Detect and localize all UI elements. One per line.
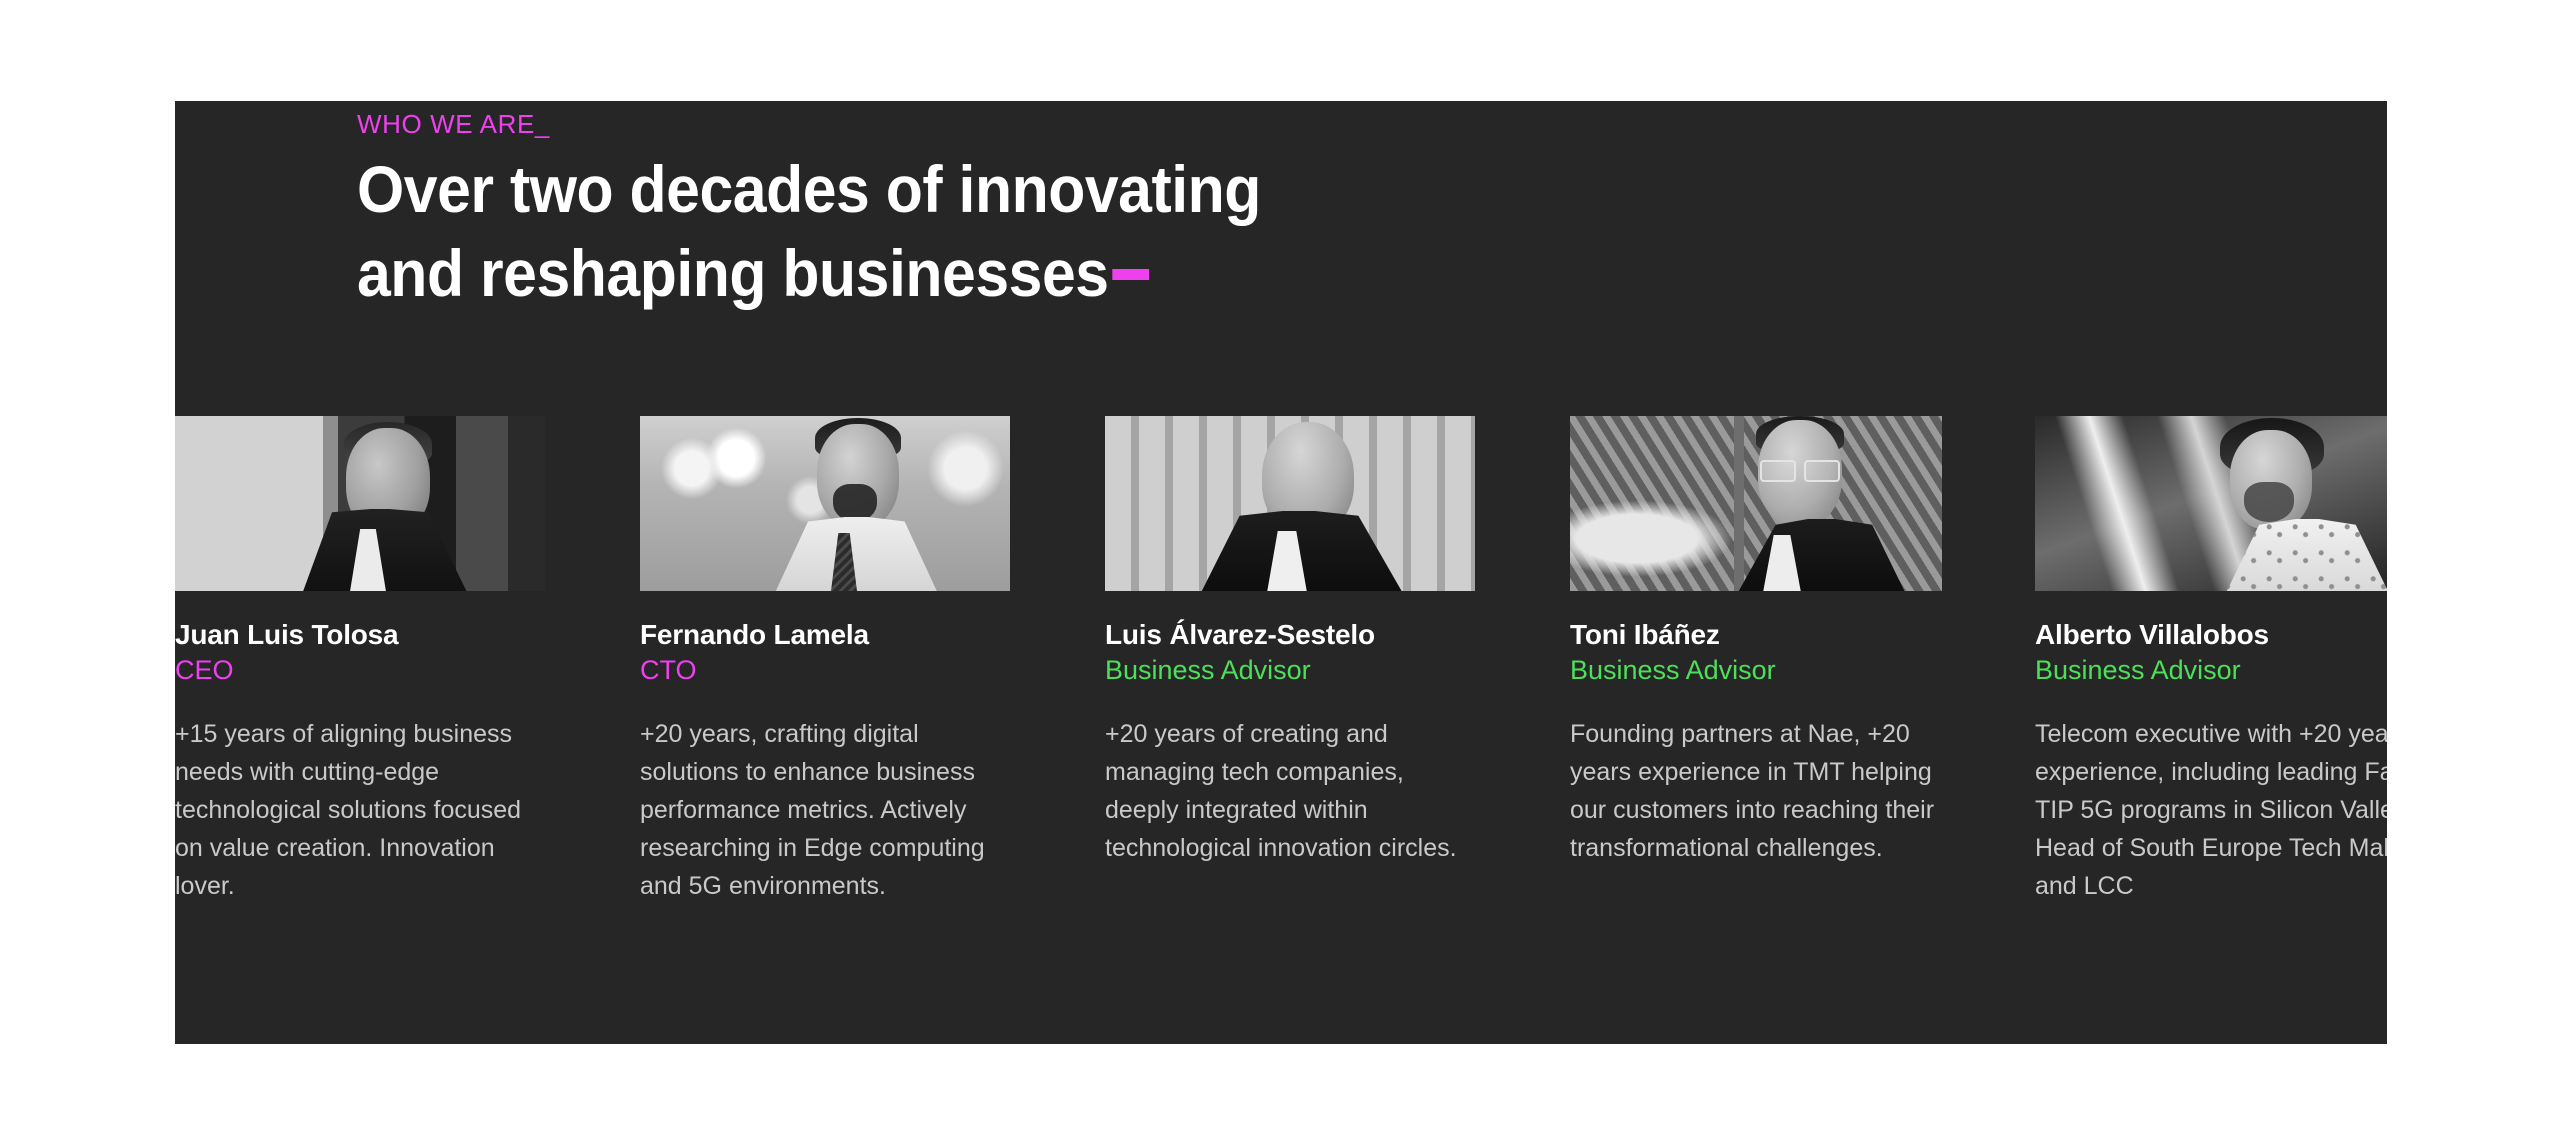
team-member-card: Luis Álvarez-Sestelo Business Advisor +2… bbox=[1105, 416, 1570, 905]
page-title: Over two decades of innovating and resha… bbox=[357, 147, 1921, 315]
portrait-photo bbox=[1570, 416, 1942, 591]
team-member-card: Juan Luis Tolosa CEO +15 years of aligni… bbox=[175, 416, 640, 905]
member-bio: +20 years of creating and managing tech … bbox=[1105, 715, 1475, 867]
portrait-glasses bbox=[1758, 460, 1842, 478]
member-name: Juan Luis Tolosa bbox=[175, 618, 545, 652]
headline-line-1: Over two decades of innovating bbox=[357, 152, 1261, 226]
member-info: Toni Ibáñez Business Advisor Founding pa… bbox=[1570, 591, 1940, 867]
member-name: Luis Álvarez-Sestelo bbox=[1105, 618, 1475, 652]
team-member-card: Fernando Lamela CTO +20 years, crafting … bbox=[640, 416, 1105, 905]
section-eyebrow: WHO WE ARE_ bbox=[357, 101, 2057, 139]
member-bio: +15 years of aligning business needs wit… bbox=[175, 715, 545, 905]
member-info: Juan Luis Tolosa CEO +15 years of aligni… bbox=[175, 591, 545, 905]
portrait-photo bbox=[640, 416, 1010, 591]
member-role: Business Advisor bbox=[1105, 653, 1475, 687]
portrait-photo bbox=[1105, 416, 1475, 591]
headline-line-2: and reshaping businesses bbox=[357, 236, 1109, 310]
member-name: Alberto Villalobos bbox=[2035, 618, 2387, 652]
member-info: Fernando Lamela CTO +20 years, crafting … bbox=[640, 591, 1010, 905]
member-role: CEO bbox=[175, 653, 545, 687]
member-info: Luis Álvarez-Sestelo Business Advisor +2… bbox=[1105, 591, 1475, 867]
portrait-torso bbox=[2186, 519, 2388, 591]
portrait-torso bbox=[1702, 519, 1932, 591]
portrait-photo bbox=[2035, 416, 2387, 591]
portrait-photo bbox=[175, 416, 545, 591]
team-grid: Juan Luis Tolosa CEO +15 years of aligni… bbox=[175, 416, 2387, 905]
who-we-are-panel: WHO WE ARE_ Over two decades of innovati… bbox=[175, 101, 2387, 1044]
member-bio: +20 years, crafting digital solutions to… bbox=[640, 715, 1010, 905]
page-root: WHO WE ARE_ Over two decades of innovati… bbox=[0, 0, 2560, 1144]
member-role: Business Advisor bbox=[2035, 653, 2387, 687]
team-member-card: Toni Ibáñez Business Advisor Founding pa… bbox=[1570, 416, 2035, 905]
member-role: CTO bbox=[640, 653, 1010, 687]
team-member-card: Alberto Villalobos Business Advisor Tele… bbox=[2035, 416, 2387, 905]
section-header: WHO WE ARE_ Over two decades of innovati… bbox=[357, 101, 2057, 315]
member-bio: Telecom executive with +20 years experie… bbox=[2035, 715, 2387, 905]
member-bio: Founding partners at Nae, +20 years expe… bbox=[1570, 715, 1940, 867]
member-role: Business Advisor bbox=[1570, 653, 1940, 687]
member-info: Alberto Villalobos Business Advisor Tele… bbox=[2035, 591, 2387, 905]
portrait-beard bbox=[833, 484, 877, 522]
portrait-beard bbox=[2244, 482, 2294, 522]
member-name: Fernando Lamela bbox=[640, 618, 1010, 652]
member-name: Toni Ibáñez bbox=[1570, 618, 1940, 652]
